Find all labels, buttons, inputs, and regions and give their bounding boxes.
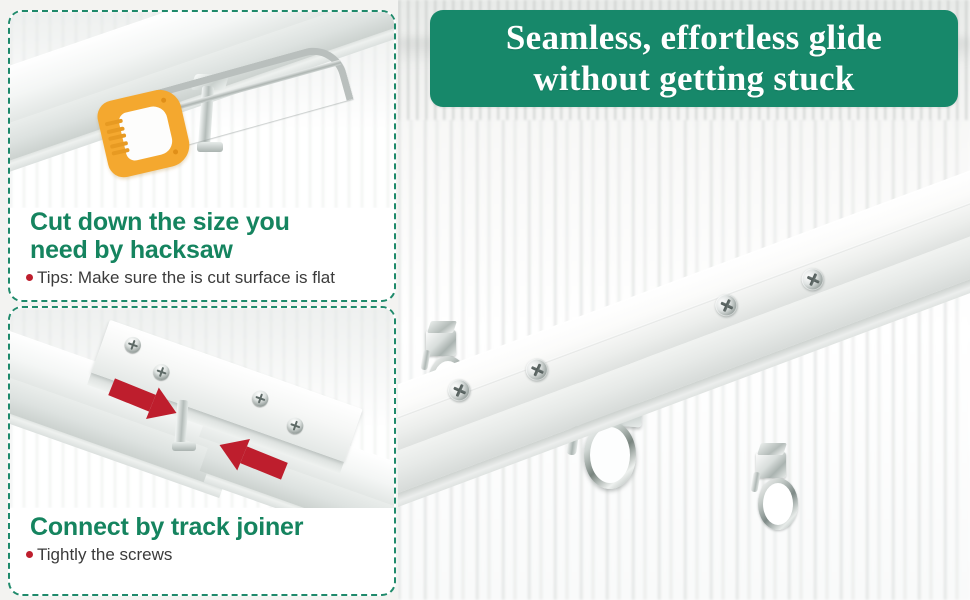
card-joiner-headline: Connect by track joiner xyxy=(30,513,378,541)
curtain-carrier-left xyxy=(426,330,456,356)
banner-text: Seamless, effortless glide without getti… xyxy=(492,18,896,99)
card-joiner-illustration xyxy=(10,308,394,508)
bullet-icon xyxy=(26,551,33,558)
screw-icon xyxy=(123,335,143,355)
bullet-icon xyxy=(26,274,33,281)
carrier-ring-icon xyxy=(758,478,798,530)
clip-foot xyxy=(172,442,196,451)
hacksaw-handle xyxy=(94,86,193,181)
screw-icon xyxy=(250,388,270,408)
card-joiner-text: Connect by track joiner Tightly the scre… xyxy=(10,513,394,565)
carrier-clip-icon xyxy=(757,443,787,455)
card-joiner-tip: Tightly the screws xyxy=(26,545,378,565)
banner-line-2: without getting stuck xyxy=(506,59,882,100)
banner-line-1: Seamless, effortless glide xyxy=(506,18,882,59)
hacksaw-icon xyxy=(102,70,342,180)
card-cut-tip: Tips: Make sure the is cut surface is fl… xyxy=(26,268,378,288)
card-track-joiner: Connect by track joiner Tightly the scre… xyxy=(8,306,396,596)
screw-icon xyxy=(285,415,305,435)
card-cut-to-size: Cut down the size you need by hacksaw Ti… xyxy=(8,10,396,302)
tip-text: Tightly the screws xyxy=(37,545,172,565)
card-cut-text: Cut down the size you need by hacksaw Ti… xyxy=(10,208,394,288)
headline-banner: Seamless, effortless glide without getti… xyxy=(430,10,958,107)
screw-icon xyxy=(151,362,171,382)
card-cut-headline: Cut down the size you need by hacksaw xyxy=(30,208,378,264)
carrier-body xyxy=(756,452,786,478)
carrier-clip-icon xyxy=(427,321,457,333)
headline-line-1: Connect by track joiner xyxy=(30,513,378,541)
curtain-carrier-right xyxy=(756,452,786,478)
headline-line-2: need by hacksaw xyxy=(30,236,378,264)
carrier-body xyxy=(426,330,456,356)
infographic-canvas: Seamless, effortless glide without getti… xyxy=(0,0,970,600)
headline-line-1: Cut down the size you xyxy=(30,208,378,236)
card-cut-illustration xyxy=(10,12,394,208)
tip-text: Tips: Make sure the is cut surface is fl… xyxy=(37,268,335,288)
